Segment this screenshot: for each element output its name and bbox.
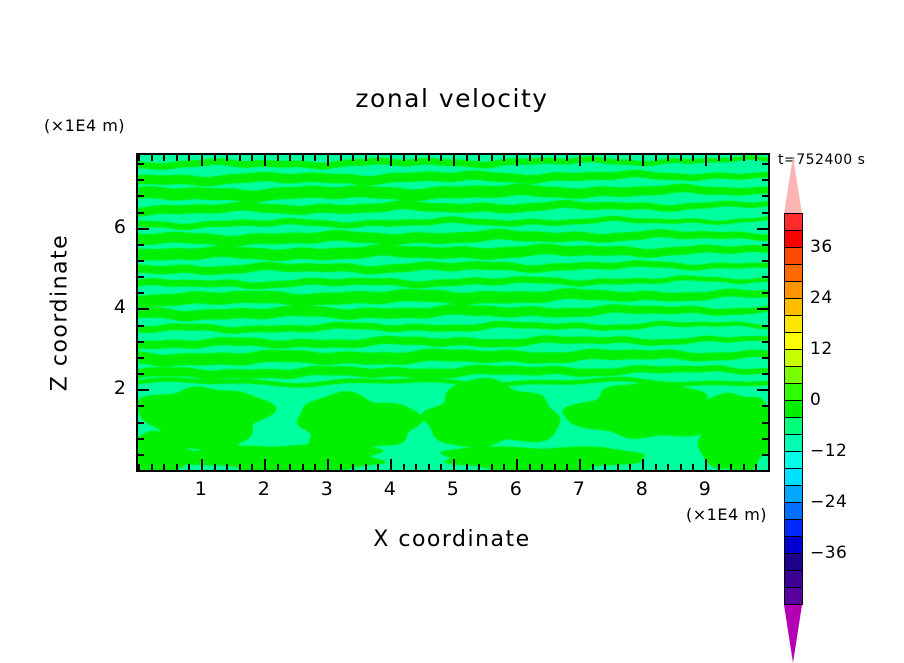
x-major-tick (579, 459, 581, 470)
y-minor-tick (138, 292, 144, 294)
x-minor-tick (768, 464, 770, 470)
x-top-tick (730, 155, 732, 161)
y-right-tick (757, 308, 768, 310)
x-top-tick (176, 155, 178, 161)
y-right-tick (757, 228, 768, 230)
x-tick-label: 6 (496, 478, 536, 500)
y-minor-tick (138, 438, 144, 440)
contour-plot-area (136, 153, 770, 472)
x-top-tick (655, 155, 657, 161)
y-tick-label: 4 (86, 296, 126, 318)
y-minor-tick (138, 325, 144, 327)
colorbar-tick-label: −24 (810, 492, 847, 512)
y-minor-tick (138, 357, 144, 359)
x-minor-tick (692, 464, 694, 470)
colorbar-segment (784, 230, 803, 249)
y-minor-tick (138, 276, 144, 278)
x-top-tick (453, 155, 455, 166)
colorbar-segment (784, 485, 803, 504)
x-minor-tick (302, 464, 304, 470)
x-minor-tick (604, 464, 606, 470)
x-minor-tick (680, 464, 682, 470)
y-right-tick (762, 163, 768, 165)
y-right-tick (762, 438, 768, 440)
colorbar-segment (784, 349, 803, 368)
y-minor-tick (138, 405, 144, 407)
x-minor-tick (251, 464, 253, 470)
x-minor-tick (466, 464, 468, 470)
y-right-tick (762, 212, 768, 214)
x-tick-label: 4 (370, 478, 410, 500)
x-top-tick (478, 155, 480, 161)
x-minor-tick (314, 464, 316, 470)
x-major-tick (390, 459, 392, 470)
y-major-tick (138, 389, 149, 391)
x-minor-tick (491, 464, 493, 470)
y-right-tick (762, 341, 768, 343)
x-tick-label: 5 (433, 478, 473, 500)
x-axis-unit-label: (×1E4 m) (686, 505, 767, 524)
colorbar-segment (784, 570, 803, 589)
x-major-tick (327, 459, 329, 470)
colorbar-segment (784, 400, 803, 419)
y-right-tick (762, 325, 768, 327)
y-minor-tick (138, 260, 144, 262)
x-minor-tick (188, 464, 190, 470)
x-minor-tick (667, 464, 669, 470)
x-minor-tick (755, 464, 757, 470)
y-minor-tick (138, 454, 144, 456)
y-right-tick (757, 389, 768, 391)
x-minor-tick (415, 464, 417, 470)
x-minor-tick (239, 464, 241, 470)
x-tick-label: 2 (244, 478, 284, 500)
x-top-tick (743, 155, 745, 161)
x-minor-tick (214, 464, 216, 470)
colorbar (784, 214, 803, 605)
y-minor-tick (138, 422, 144, 424)
y-minor-tick (138, 470, 144, 472)
x-minor-tick (718, 464, 720, 470)
y-tick-label: 6 (86, 216, 126, 238)
velocity-field-image (138, 155, 768, 470)
y-axis-title: Z coordinate (48, 193, 73, 433)
y-right-tick (762, 195, 768, 197)
x-major-tick (705, 459, 707, 470)
y-minor-tick (138, 179, 144, 181)
x-top-tick (755, 155, 757, 161)
colorbar-tick-label: −12 (810, 441, 847, 461)
x-top-tick (529, 155, 531, 161)
x-top-tick (289, 155, 291, 161)
y-right-tick (762, 373, 768, 375)
colorbar-segment (784, 213, 803, 232)
y-right-tick (762, 292, 768, 294)
y-major-tick (138, 228, 149, 230)
x-top-tick (239, 155, 241, 161)
colorbar-tick-label: 24 (810, 288, 833, 308)
y-right-tick (762, 470, 768, 472)
colorbar-segment (784, 264, 803, 283)
y-right-tick (762, 405, 768, 407)
x-top-tick (327, 155, 329, 166)
x-top-tick (390, 155, 392, 166)
x-top-tick (440, 155, 442, 161)
x-top-tick (151, 155, 153, 161)
x-top-tick (214, 155, 216, 161)
colorbar-tick-label: 0 (810, 390, 821, 410)
x-minor-tick (277, 464, 279, 470)
x-minor-tick (176, 464, 178, 470)
colorbar-top-arrow (784, 156, 802, 214)
x-top-tick (705, 155, 707, 166)
x-top-tick (201, 155, 203, 166)
x-tick-label: 1 (181, 478, 221, 500)
x-top-tick (352, 155, 354, 161)
x-top-tick (718, 155, 720, 161)
x-top-tick (768, 155, 770, 161)
x-top-tick (629, 155, 631, 161)
x-top-tick (188, 155, 190, 161)
colorbar-segment (784, 383, 803, 402)
x-top-tick (264, 155, 266, 166)
colorbar-segment (784, 553, 803, 572)
x-minor-tick (566, 464, 568, 470)
y-right-tick (762, 454, 768, 456)
x-minor-tick (478, 464, 480, 470)
y-right-tick (762, 357, 768, 359)
x-top-tick (680, 155, 682, 161)
x-major-tick (516, 459, 518, 470)
x-major-tick (453, 459, 455, 470)
x-minor-tick (617, 464, 619, 470)
x-top-tick (642, 155, 644, 166)
x-minor-tick (403, 464, 405, 470)
x-top-tick (138, 155, 140, 161)
x-top-tick (503, 155, 505, 161)
y-minor-tick (138, 373, 144, 375)
y-right-tick (762, 276, 768, 278)
x-top-tick (516, 155, 518, 166)
colorbar-tick-label: 12 (810, 339, 833, 359)
x-tick-label: 7 (559, 478, 599, 500)
y-minor-tick (138, 163, 144, 165)
x-top-tick (579, 155, 581, 166)
colorbar-segment (784, 502, 803, 521)
x-top-tick (604, 155, 606, 161)
x-top-tick (541, 155, 543, 161)
x-tick-label: 3 (307, 478, 347, 500)
y-right-tick (762, 260, 768, 262)
colorbar-segment (784, 332, 803, 351)
x-major-tick (642, 459, 644, 470)
x-top-tick (302, 155, 304, 161)
y-right-tick (762, 422, 768, 424)
x-minor-tick (592, 464, 594, 470)
colorbar-tick-label: 36 (810, 237, 833, 257)
colorbar-segment (784, 434, 803, 453)
x-axis-title: X coordinate (0, 527, 904, 552)
x-top-tick (566, 155, 568, 161)
x-minor-tick (541, 464, 543, 470)
x-top-tick (403, 155, 405, 161)
colorbar-segment (784, 451, 803, 470)
x-minor-tick (352, 464, 354, 470)
x-top-tick (226, 155, 228, 161)
colorbar-segment (784, 519, 803, 538)
x-top-tick (377, 155, 379, 161)
x-minor-tick (163, 464, 165, 470)
x-top-tick (428, 155, 430, 161)
x-major-tick (201, 459, 203, 470)
colorbar-segment (784, 587, 803, 606)
y-tick-label: 2 (86, 377, 126, 399)
x-tick-label: 8 (622, 478, 662, 500)
page-title: zonal velocity (0, 84, 904, 113)
x-tick-label: 9 (685, 478, 725, 500)
x-minor-tick (340, 464, 342, 470)
y-minor-tick (138, 244, 144, 246)
colorbar-segment (784, 366, 803, 385)
x-top-tick (314, 155, 316, 161)
x-top-tick (340, 155, 342, 161)
y-minor-tick (138, 212, 144, 214)
colorbar-segment (784, 315, 803, 334)
x-minor-tick (730, 464, 732, 470)
x-top-tick (277, 155, 279, 161)
x-minor-tick (554, 464, 556, 470)
figure-canvas: zonal velocity (×1E4 m) (×1E4 m) X coord… (0, 0, 904, 654)
x-top-tick (466, 155, 468, 161)
x-top-tick (365, 155, 367, 161)
x-major-tick (264, 459, 266, 470)
colorbar-segment (784, 417, 803, 436)
x-minor-tick (503, 464, 505, 470)
colorbar-segment (784, 468, 803, 487)
x-top-tick (667, 155, 669, 161)
y-axis-unit-label: (×1E4 m) (44, 116, 125, 135)
x-minor-tick (377, 464, 379, 470)
x-top-tick (415, 155, 417, 161)
x-top-tick (251, 155, 253, 161)
x-minor-tick (428, 464, 430, 470)
x-minor-tick (629, 464, 631, 470)
y-right-tick (762, 244, 768, 246)
x-top-tick (692, 155, 694, 161)
y-right-tick (762, 179, 768, 181)
colorbar-segment (784, 281, 803, 300)
colorbar-segment (784, 247, 803, 266)
x-minor-tick (529, 464, 531, 470)
x-top-tick (491, 155, 493, 161)
x-minor-tick (743, 464, 745, 470)
y-minor-tick (138, 341, 144, 343)
x-minor-tick (151, 464, 153, 470)
x-top-tick (554, 155, 556, 161)
colorbar-bottom-arrow (784, 605, 802, 663)
x-top-tick (617, 155, 619, 161)
x-minor-tick (226, 464, 228, 470)
y-major-tick (138, 308, 149, 310)
x-minor-tick (289, 464, 291, 470)
y-minor-tick (138, 195, 144, 197)
colorbar-segment (784, 298, 803, 317)
colorbar-segment (784, 536, 803, 555)
x-minor-tick (655, 464, 657, 470)
x-top-tick (163, 155, 165, 161)
colorbar-tick-label: −36 (810, 543, 847, 563)
x-minor-tick (440, 464, 442, 470)
x-top-tick (592, 155, 594, 161)
x-minor-tick (365, 464, 367, 470)
